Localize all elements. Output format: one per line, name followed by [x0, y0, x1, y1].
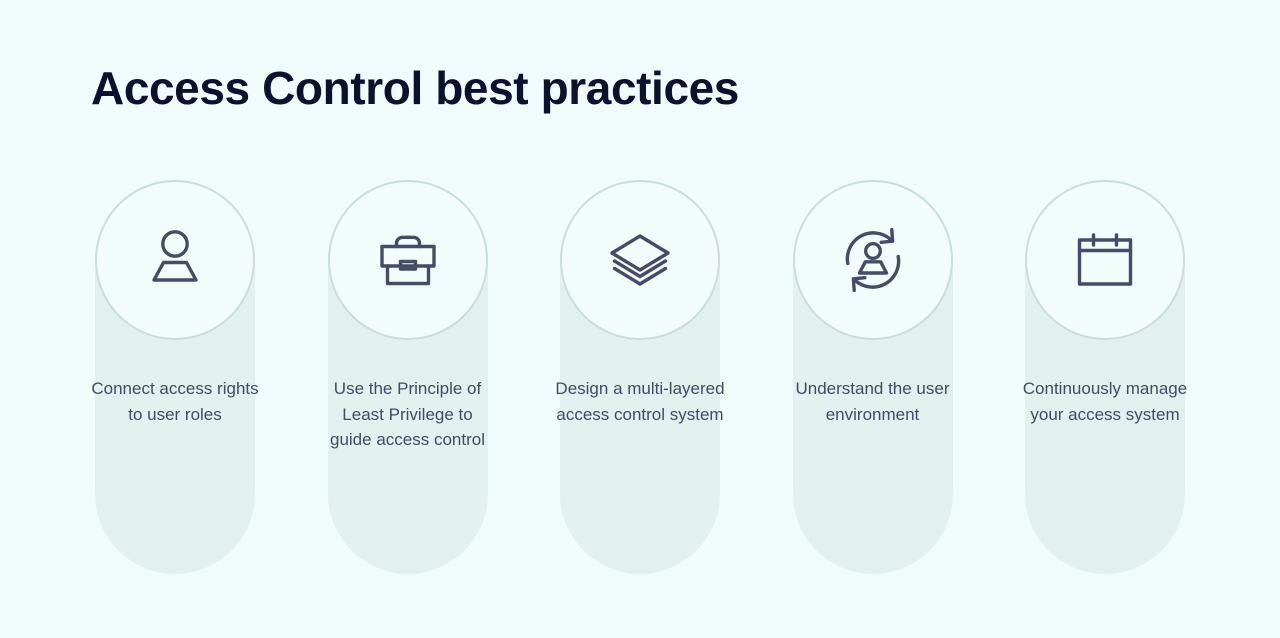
card-label: Connect access rights to user roles: [89, 376, 261, 427]
icon-circle: [95, 180, 255, 340]
icon-circle: [1025, 180, 1185, 340]
briefcase-icon: [371, 223, 445, 297]
calendar-icon: [1068, 223, 1142, 297]
layers-stack-icon: [603, 223, 677, 297]
card-label: Design a multi-layered access control sy…: [554, 376, 726, 427]
practice-card-user-environment: Understand the user environment: [793, 180, 953, 574]
page-title: Access Control best practices: [91, 62, 739, 115]
practice-card-continuously-manage: Continuously manage your access system: [1025, 180, 1185, 574]
practice-card-least-privilege: Use the Principle of Least Privilege to …: [328, 180, 488, 574]
best-practices-card-list: Connect access rights to user roles Use …: [95, 180, 1185, 574]
icon-circle: [793, 180, 953, 340]
card-label: Understand the user environment: [787, 376, 959, 427]
card-label: Continuously manage your access system: [1019, 376, 1191, 427]
card-label: Use the Principle of Least Privilege to …: [322, 376, 494, 453]
icon-circle: [560, 180, 720, 340]
user-sync-refresh-icon: [836, 223, 910, 297]
practice-card-connect-access-rights: Connect access rights to user roles: [95, 180, 255, 574]
icon-circle: [328, 180, 488, 340]
user-person-icon: [138, 223, 212, 297]
practice-card-multi-layered: Design a multi-layered access control sy…: [560, 180, 720, 574]
